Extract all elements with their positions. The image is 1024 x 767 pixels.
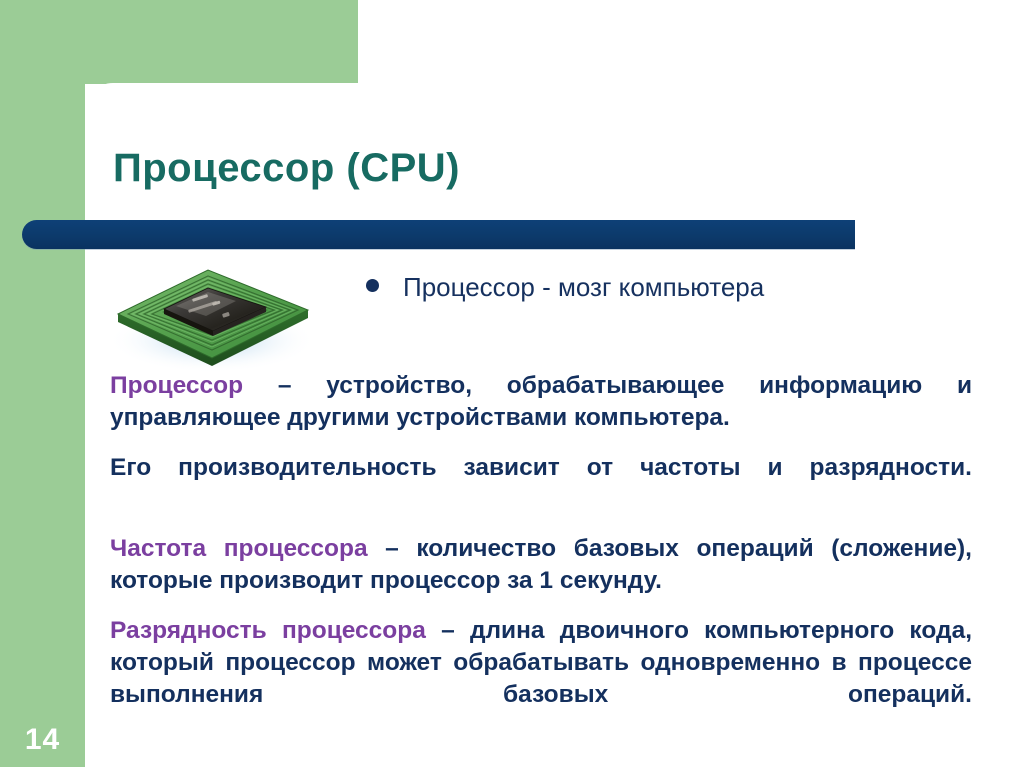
presentation-slide: Процессор (CPU)	[0, 0, 1024, 767]
green-top-block	[0, 0, 358, 84]
green-left-band	[0, 0, 85, 767]
cpu-chip-image	[96, 262, 324, 378]
term-performance-lead: Его	[110, 454, 151, 481]
paragraph-performance: Его производительность зависит от частот…	[110, 452, 972, 516]
term-frequency: Частота процессора	[110, 535, 368, 562]
term-processor: Процессор	[110, 372, 243, 399]
paragraph-definition-bitness: Разрядность процессора – длина двоичного…	[110, 615, 972, 742]
paragraph-definition-processor: Процессор – устройство, обрабатывающее и…	[110, 370, 972, 434]
term-bitness: Разрядность процессора	[110, 617, 426, 644]
bullet-item: Процессор - мозг компьютера	[366, 272, 764, 303]
bullet-dot-icon	[366, 279, 379, 292]
slide-number: 14	[0, 713, 85, 767]
navy-divider-bar	[22, 220, 855, 249]
definition-performance: производительность зависит от частоты и …	[151, 454, 972, 481]
bullet-item-label: Процессор - мозг компьютера	[403, 272, 764, 303]
paragraph-definition-frequency: Частота процессора – количество базовых …	[110, 533, 972, 597]
body-text-block: Процессор – устройство, обрабатывающее и…	[110, 370, 972, 742]
cpu-chip-icon	[96, 262, 324, 378]
page-title: Процессор (CPU)	[113, 146, 460, 191]
